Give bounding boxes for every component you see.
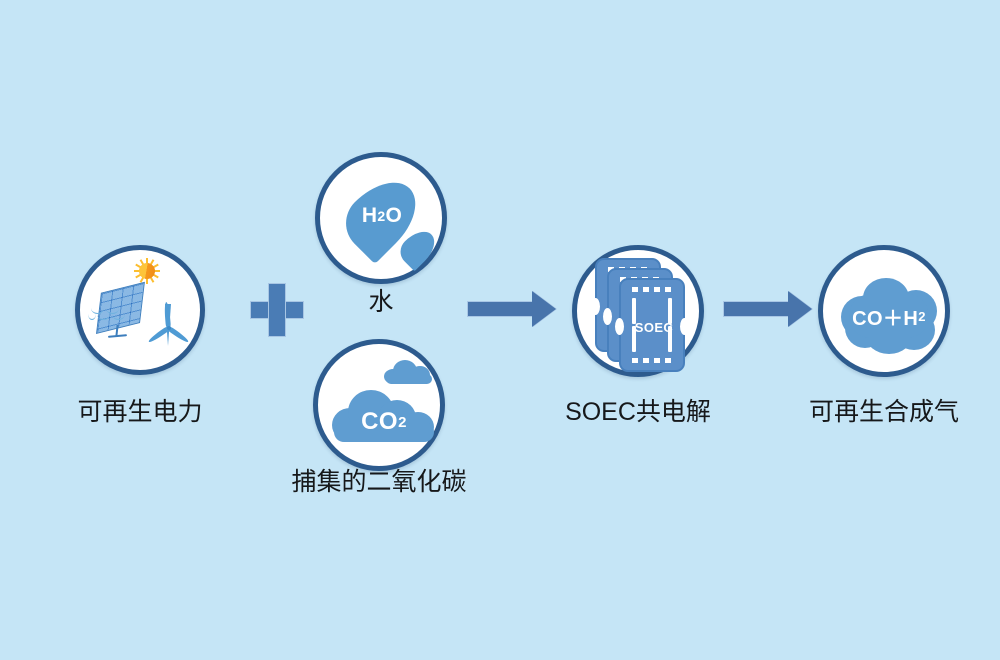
- node-captured-co2: CO2: [313, 339, 445, 471]
- sun-icon: [134, 258, 160, 284]
- cloud-icon: CO2: [332, 382, 436, 442]
- node-soec-co-electrolysis: SOEC: [572, 245, 704, 377]
- node-renewable-syngas: CO＋H2: [818, 245, 950, 377]
- caption-soec-co-electrolysis: SOEC共电解: [548, 400, 728, 425]
- soec-badge: SOEC: [621, 318, 687, 336]
- arrow-right-icon-2: [723, 288, 813, 330]
- node-renewable-power: [75, 245, 205, 375]
- caption-captured-co2: 捕集的二氧化碳: [289, 470, 469, 495]
- caption-renewable-power: 可再生电力: [60, 400, 220, 425]
- caption-water: 水: [341, 290, 421, 315]
- water-waves-icon: [88, 308, 132, 322]
- syngas-formula: CO＋H2: [841, 298, 937, 334]
- cloud-small-icon: [384, 358, 434, 384]
- diagram-canvas: 可再生电力 H2O 水 CO2 捕集的二氧化碳: [0, 0, 1000, 660]
- co2-formula: CO2: [332, 402, 436, 442]
- gas-cloud-icon: CO＋H2: [841, 278, 937, 354]
- cell-stack-icon: SOEC: [595, 258, 695, 376]
- node-water: H2O: [315, 152, 447, 284]
- caption-renewable-syngas: 可再生合成气: [793, 400, 975, 425]
- wind-turbine-icon: [142, 282, 198, 352]
- plus-operator-icon: [248, 281, 306, 339]
- arrow-right-icon-1: [467, 288, 557, 330]
